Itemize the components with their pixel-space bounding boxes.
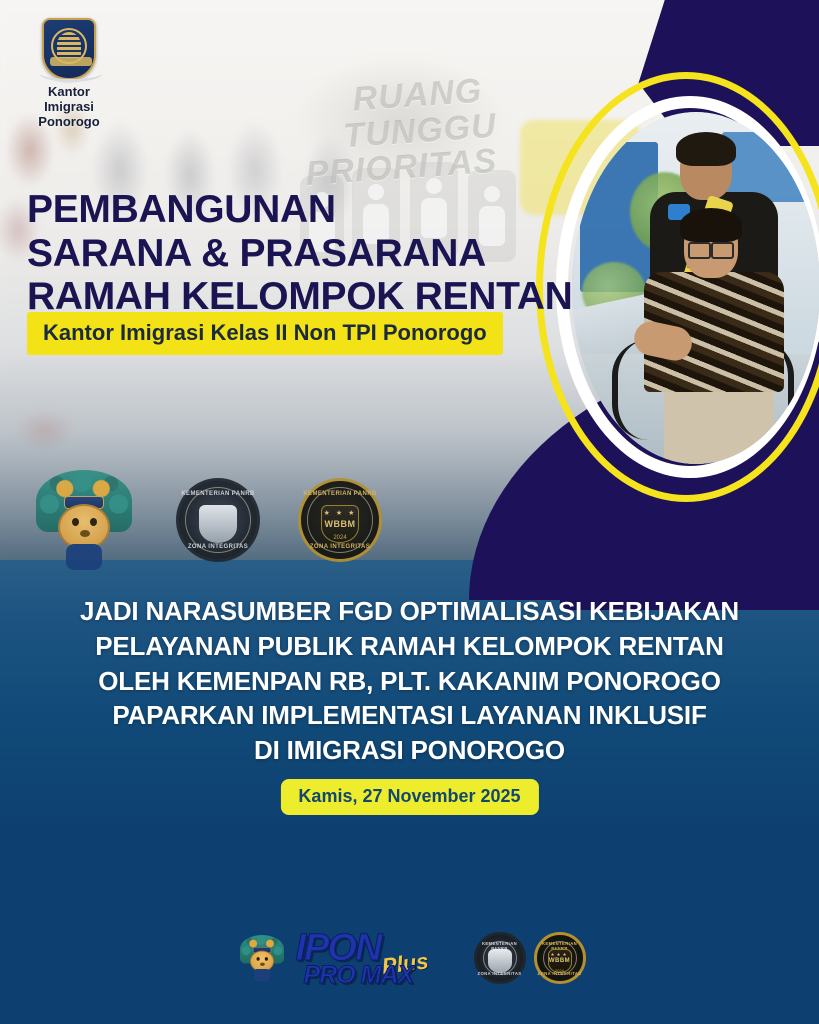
headline-subtitle-badge: Kantor Imigrasi Kelas II Non TPI Ponorog… [27, 312, 503, 355]
body-line2: PELAYANAN PUBLIK RAMAH KELOMPOK RENTAN [0, 629, 819, 664]
ipon-brand-sub: PRO MAX [304, 961, 414, 990]
org-name-line1: Kantor Imigrasi [30, 85, 108, 115]
date-badge: Kamis, 27 November 2025 [280, 779, 538, 815]
body-line4: PAPARKAN IMPLEMENTASI LAYANAN INKLUSIF [0, 698, 819, 733]
footer-wbk-seal-icon: KEMENTERIAN PANRB ZONA INTEGRITAS [474, 932, 526, 984]
org-name-line2: Ponorogo [30, 115, 108, 130]
photo-client-hair [680, 208, 742, 242]
wbbm-seal-bottom-text: ZONA INTEGRITAS [301, 544, 379, 550]
imigrasi-shield-emblem-icon [42, 18, 96, 80]
photo-officer-hair [676, 132, 736, 166]
poster-canvas: RUANG TUNGGU PRIORITAS [0, 0, 819, 1024]
headline: PEMBANGUNAN SARANA & PRASARANA RAMAH KEL… [27, 188, 587, 319]
footer-wbk-bottom-text: ZONA INTEGRITAS [477, 971, 523, 976]
photo-circle [572, 112, 819, 464]
ipon-promax-wordmark: IPON Plus PRO MAX [296, 927, 466, 989]
body-line1: JADI NARASUMBER FGD OPTIMALISASI KEBIJAK… [0, 594, 819, 629]
footer-wbbm-seal-icon: KEMENTERIAN PANRB ★★★ WBBM 2024 ZONA INT… [534, 932, 586, 984]
zona-integritas-wbk-seal-icon: KEMENTERIAN PANRB ZONA INTEGRITAS [176, 478, 260, 562]
wbk-seal-top-text: KEMENTERIAN PANRB [179, 491, 257, 497]
body-copy: JADI NARASUMBER FGD OPTIMALISASI KEBIJAK… [0, 594, 819, 768]
footer-ipon-mascot-icon [237, 935, 287, 981]
org-name: Kantor Imigrasi Ponorogo [30, 85, 108, 130]
headline-line1: PEMBANGUNAN [27, 188, 587, 232]
header-logo: Kantor Imigrasi Ponorogo [30, 18, 108, 130]
footer-wbbm-bottom-text: ZONA INTEGRITAS [537, 971, 583, 976]
footer-logo-row: IPON Plus PRO MAX KEMENTERIAN PANRB ZONA… [0, 912, 819, 1004]
footer-wbbm-center-text: WBBM [537, 958, 583, 964]
photo-client-glasses [688, 242, 734, 255]
wall-sign-text: RUANG TUNGGU PRIORITAS [287, 69, 554, 194]
body-line3: OLEH KEMENPAN RB, PLT. KAKANIM PONOROGO [0, 664, 819, 699]
wbbm-seal-center-text: WBBM [301, 519, 379, 529]
mid-logo-row: KEMENTERIAN PANRB ZONA INTEGRITAS KEMENT… [30, 470, 390, 570]
headline-line2: SARANA & PRASARANA [27, 232, 587, 276]
wbk-seal-bottom-text: ZONA INTEGRITAS [179, 544, 257, 550]
ipon-mascot-icon [30, 470, 138, 570]
body-line5: DI IMIGRASI PONOROGO [0, 733, 819, 768]
wbbm-seal-top-text: KEMENTERIAN PANRB [301, 491, 379, 497]
zona-integritas-wbbm-seal-icon: KEMENTERIAN PANRB ★ ★ ★ WBBM 2024 ZONA I… [298, 478, 382, 562]
wbbm-seal-year: 2024 [301, 535, 379, 541]
